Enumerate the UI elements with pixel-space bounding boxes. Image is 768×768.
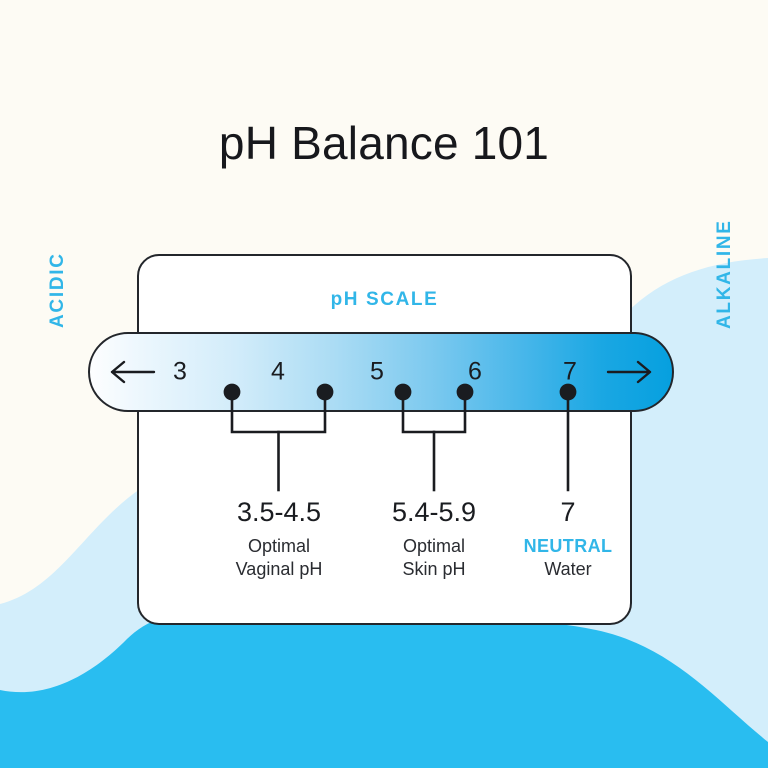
callout-skin: 5.4-5.9 Optimal Skin pH [392, 498, 476, 581]
card-heading: pH SCALE [139, 290, 630, 309]
callout-vaginal-line2: Vaginal pH [236, 558, 323, 581]
scale-tick-7: 7 [563, 360, 577, 385]
scale-tick-5: 5 [370, 360, 384, 385]
callout-neutral-line2: Water [524, 558, 613, 581]
arrow-left-icon [108, 359, 156, 385]
callout-skin-description: Optimal Skin pH [392, 535, 476, 581]
callout-neutral: 7 NEUTRAL Water [524, 498, 613, 581]
callout-skin-line1: Optimal [392, 535, 476, 558]
axis-label-alkaline: ALKALINE [715, 219, 734, 329]
callout-vaginal-description: Optimal Vaginal pH [236, 535, 323, 581]
axis-label-acidic: ACIDIC [48, 252, 67, 328]
infographic-canvas: pH Balance 101 pH SCALE ACIDIC ALKALINE … [0, 0, 768, 768]
callout-vaginal: 3.5-4.5 Optimal Vaginal pH [236, 498, 323, 581]
arrow-right-icon [606, 359, 654, 385]
scale-tick-6: 6 [468, 360, 482, 385]
callout-neutral-range: 7 [524, 498, 613, 526]
callout-neutral-description: NEUTRAL Water [524, 535, 613, 581]
callout-skin-range: 5.4-5.9 [392, 498, 476, 526]
scale-tick-3: 3 [173, 360, 187, 385]
callout-neutral-line1: NEUTRAL [524, 535, 613, 558]
page-title: pH Balance 101 [0, 120, 768, 166]
ph-scale-track: 3 4 5 6 7 [90, 334, 672, 410]
callout-skin-line2: Skin pH [392, 558, 476, 581]
callout-vaginal-range: 3.5-4.5 [236, 498, 323, 526]
scale-tick-4: 4 [271, 360, 285, 385]
ph-scale-bar: 3 4 5 6 7 [88, 332, 674, 412]
callout-vaginal-line1: Optimal [236, 535, 323, 558]
